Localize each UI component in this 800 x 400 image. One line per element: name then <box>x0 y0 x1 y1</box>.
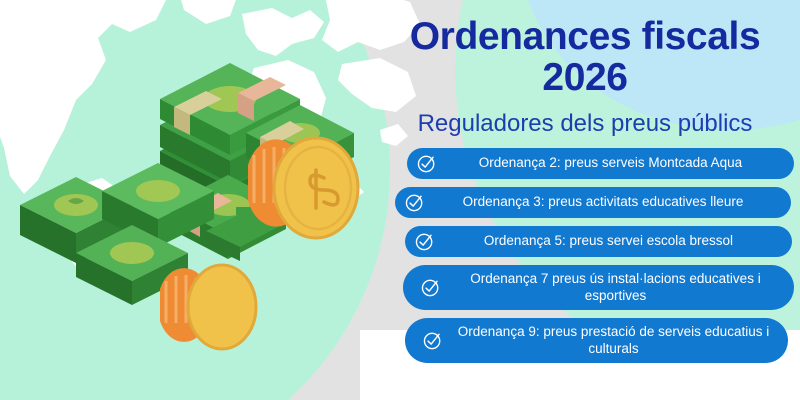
content-column: Ordenances fiscals 2026 Reguladores dels… <box>385 0 800 400</box>
title-line-2: 2026 <box>542 56 627 99</box>
list-item[interactable]: Ordenança 2: preus serveis Montcada Aqua <box>407 148 794 179</box>
page-title: Ordenances fiscals 2026 <box>385 16 785 98</box>
check-circle-icon <box>415 232 435 252</box>
money-stacks-and-coins <box>10 35 410 385</box>
check-circle-icon <box>417 154 437 174</box>
poster-canvas: Ordenances fiscals 2026 Reguladores dels… <box>0 0 800 400</box>
list-item-label: Ordenança 5: preus servei escola bressol <box>443 233 778 250</box>
check-circle-icon <box>423 331 443 351</box>
list-item-label: Ordenança 9: preus prestació de serveis … <box>457 324 774 357</box>
page-subtitle: Reguladores dels preus públics <box>385 110 785 138</box>
check-circle-icon <box>421 278 441 298</box>
ordinance-list: Ordenança 2: preus serveis Montcada Aqua… <box>385 148 800 371</box>
list-item[interactable]: Ordenança 3: preus activitats educatives… <box>395 187 791 218</box>
title-line-1: Ordenances fiscals <box>410 15 760 58</box>
list-item[interactable]: Ordenança 7 preus ús instal·lacions educ… <box>403 265 794 310</box>
check-circle-icon <box>405 193 425 213</box>
list-item[interactable]: Ordenança 9: preus prestació de serveis … <box>405 318 788 363</box>
list-item-label: Ordenança 2: preus serveis Montcada Aqua <box>445 155 780 172</box>
list-item-label: Ordenança 3: preus activitats educatives… <box>433 194 777 211</box>
list-item[interactable]: Ordenança 5: preus servei escola bressol <box>405 226 792 257</box>
list-item-label: Ordenança 7 preus ús instal·lacions educ… <box>455 271 780 304</box>
